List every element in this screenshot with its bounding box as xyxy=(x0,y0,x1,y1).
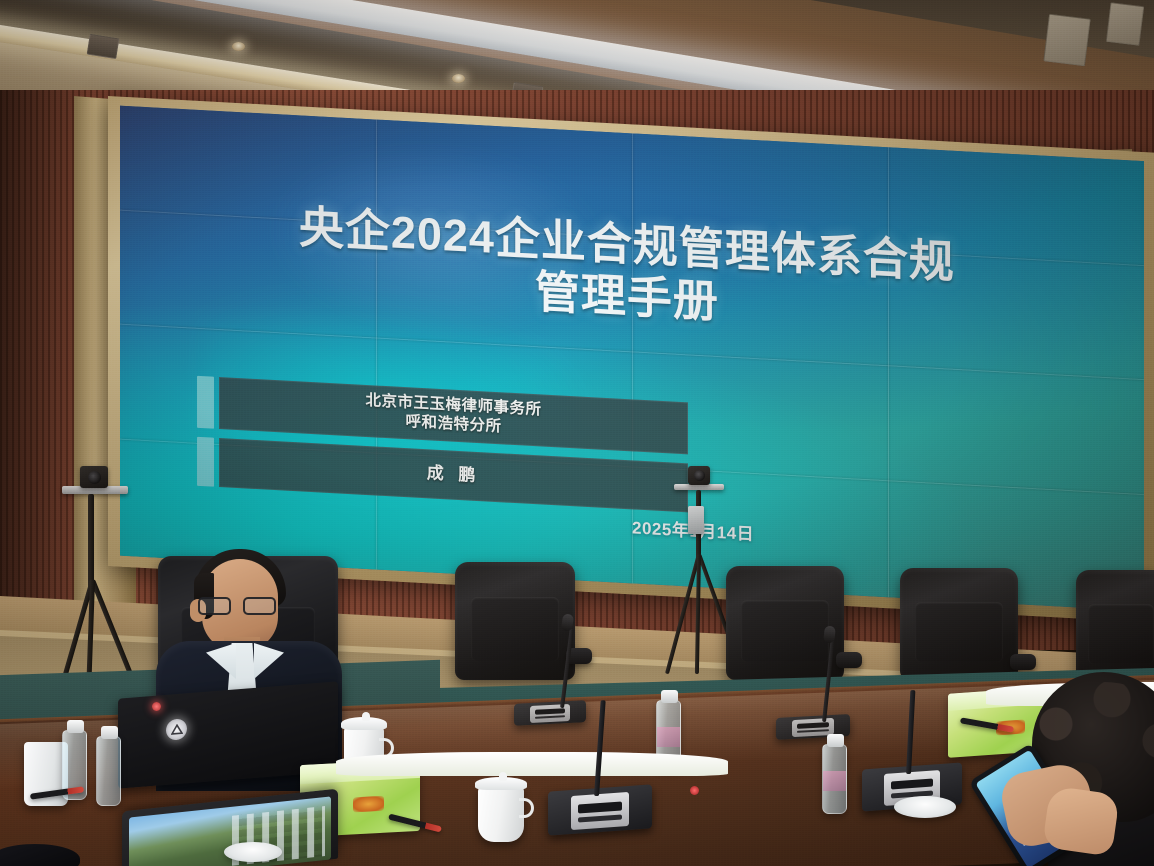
bottle-cap xyxy=(661,690,678,703)
ceiling-downlight xyxy=(452,74,465,83)
conference-chair[interactable] xyxy=(900,568,1018,680)
conference-room-photo: 央企2024企业合规管理体系合规 管理手册 北京市王玉梅律师事务所 呼和浩特分所… xyxy=(0,0,1154,866)
teacup-with-lid[interactable] xyxy=(478,786,524,842)
bottle-cap xyxy=(67,720,84,733)
tissue-sheet xyxy=(336,752,728,776)
tripod-camera xyxy=(80,466,108,488)
mounted-phone xyxy=(688,506,704,534)
bottle-cap xyxy=(827,734,844,747)
conference-chair[interactable] xyxy=(455,562,575,680)
saucer xyxy=(894,796,956,818)
video-wall-frame: 央企2024企业合规管理体系合规 管理手册 北京市王玉梅律师事务所 呼和浩特分所… xyxy=(108,96,1154,623)
status-led-red xyxy=(152,702,161,711)
tripod-leg xyxy=(695,554,701,674)
eyeglass-lens xyxy=(198,597,231,615)
mic-control-panel xyxy=(571,792,629,830)
teacup-lid-knob xyxy=(499,772,507,781)
camera-lens-icon xyxy=(88,471,101,484)
ceiling-speaker-grille xyxy=(87,34,120,59)
chair-armrest xyxy=(836,652,862,668)
tissue-box-logo-icon xyxy=(353,795,384,812)
bottle-label xyxy=(823,771,846,791)
bottle-label xyxy=(657,727,680,747)
bottle-cap xyxy=(101,726,118,739)
saucer xyxy=(224,842,282,862)
conference-chair[interactable] xyxy=(1076,570,1154,682)
camera-lens-icon xyxy=(694,470,705,481)
ceiling-downlight xyxy=(232,42,245,51)
video-wall-display[interactable]: 央企2024企业合规管理体系合规 管理手册 北京市王玉梅律师事务所 呼和浩特分所… xyxy=(120,106,1144,611)
person-with-smartphone xyxy=(1010,672,1154,866)
chair-armrest xyxy=(1010,654,1036,670)
water-bottle[interactable] xyxy=(96,736,121,806)
conference-microphone-base[interactable] xyxy=(514,700,586,726)
person-hand-right xyxy=(1042,785,1120,856)
microphone-indicator-red xyxy=(690,786,699,795)
teacup-lid-knob xyxy=(362,712,370,721)
eyeglass-lens xyxy=(243,597,276,615)
screen-vignette xyxy=(120,106,1144,611)
ceiling-vent xyxy=(1106,2,1145,46)
conference-microphone-base[interactable] xyxy=(548,784,652,835)
ceiling-vent xyxy=(1043,14,1091,67)
conference-chair[interactable] xyxy=(726,566,844,680)
eyeglasses-icon xyxy=(198,597,284,615)
tripod-camera xyxy=(688,466,710,485)
water-bottle[interactable] xyxy=(822,744,847,814)
